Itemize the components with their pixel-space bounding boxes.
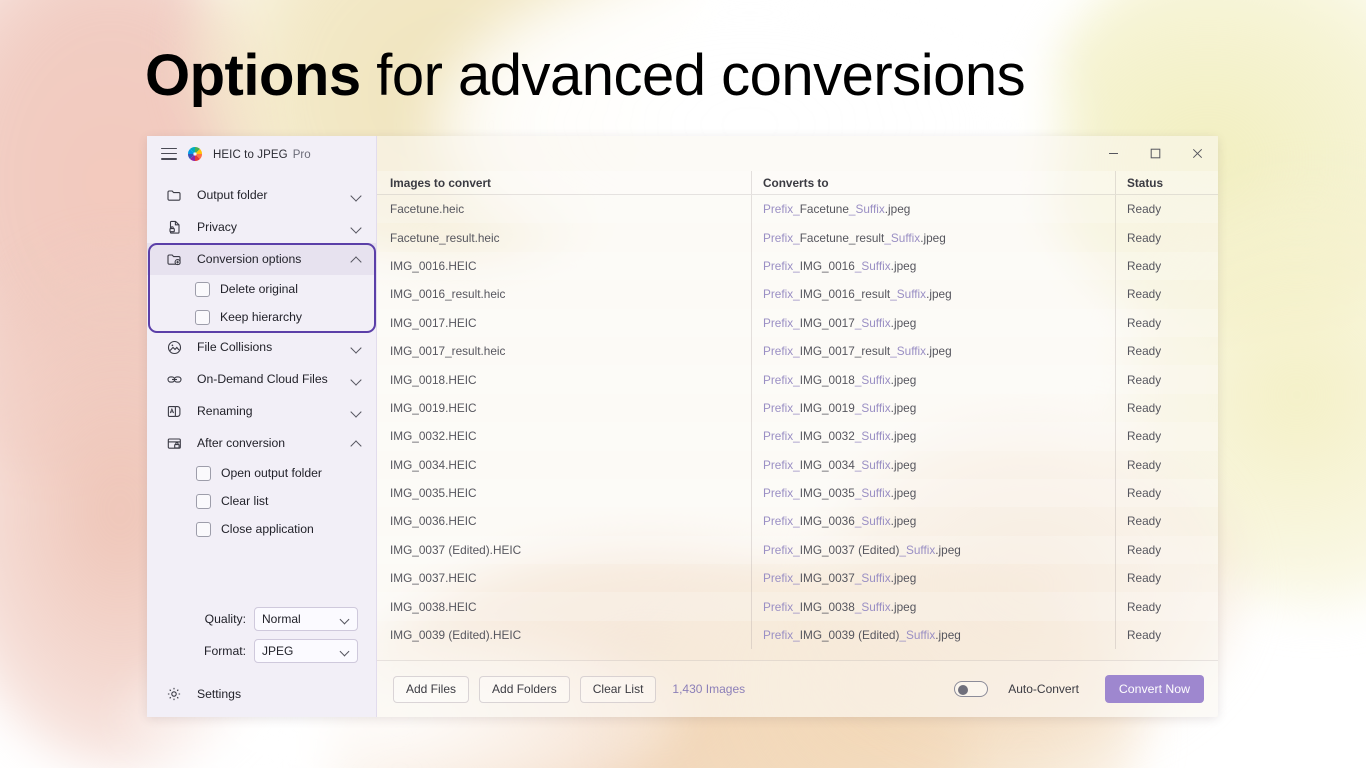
- file-list[interactable]: Facetune.heicPrefix_Facetune_Suffix.jpeg…: [377, 195, 1218, 660]
- source-file-name: IMG_0017.HEIC: [390, 316, 477, 330]
- target-file-name: Prefix_Facetune_result_Suffix.jpeg: [763, 231, 946, 245]
- cell-target-file: Prefix_IMG_0016_result_Suffix.jpeg: [751, 280, 1115, 308]
- checkbox-label: Delete original: [220, 282, 298, 296]
- source-file-name: IMG_0037 (Edited).HEIC: [390, 543, 521, 557]
- sidebar-item-conversion-options[interactable]: Conversion options: [147, 243, 376, 275]
- status-label: Ready: [1127, 600, 1161, 614]
- quality-select[interactable]: Normal: [254, 607, 358, 631]
- format-row: Format: JPEG: [147, 639, 358, 663]
- target-file-name: Prefix_IMG_0017_Suffix.jpeg: [763, 316, 916, 330]
- status-label: Ready: [1127, 287, 1161, 301]
- app-titlebar-left: HEIC to JPEGPro: [147, 136, 376, 171]
- status-label: Ready: [1127, 231, 1161, 245]
- column-header-converts-to[interactable]: Converts to: [751, 171, 1115, 194]
- checkbox-row-keep-hierarchy[interactable]: Keep hierarchy: [147, 303, 376, 331]
- cell-source-file: IMG_0036.HEIC: [377, 507, 751, 535]
- chevron-down-icon[interactable]: [350, 405, 362, 417]
- status-label: Ready: [1127, 458, 1161, 472]
- target-file-name: Prefix_IMG_0016_result_Suffix.jpeg: [763, 287, 952, 301]
- folder-icon: [165, 186, 183, 204]
- target-file-name: Prefix_IMG_0038_Suffix.jpeg: [763, 600, 916, 614]
- cell-target-file: Prefix_IMG_0039 (Edited)_Suffix.jpeg: [751, 621, 1115, 649]
- sidebar-item-label: Renaming: [197, 404, 336, 418]
- sidebar-item-on-demand-cloud-files[interactable]: On-Demand Cloud Files: [147, 363, 376, 395]
- cell-source-file: Facetune_result.heic: [377, 223, 751, 251]
- cell-source-file: IMG_0039 (Edited).HEIC: [377, 621, 751, 649]
- cell-status: Ready: [1115, 223, 1218, 251]
- cell-status: Ready: [1115, 592, 1218, 620]
- checkbox-row-close-application[interactable]: Close application: [147, 515, 376, 543]
- table-row[interactable]: IMG_0037.HEICPrefix_IMG_0037_Suffix.jpeg…: [377, 564, 1218, 592]
- sidebar-item-label: Output folder: [197, 188, 336, 202]
- cell-source-file: IMG_0035.HEIC: [377, 479, 751, 507]
- cell-status: Ready: [1115, 507, 1218, 535]
- cell-status: Ready: [1115, 337, 1218, 365]
- table-row[interactable]: IMG_0016_result.heicPrefix_IMG_0016_resu…: [377, 280, 1218, 308]
- source-file-name: IMG_0016.HEIC: [390, 259, 477, 273]
- bottom-toolbar: Add Files Add Folders Clear List 1,430 I…: [377, 660, 1218, 717]
- checkbox-row-clear-list[interactable]: Clear list: [147, 487, 376, 515]
- source-file-name: Facetune.heic: [390, 202, 464, 216]
- source-file-name: IMG_0034.HEIC: [390, 458, 477, 472]
- sidebar-nav: Output folder Privacy: [147, 171, 376, 543]
- cell-source-file: IMG_0017_result.heic: [377, 337, 751, 365]
- status-label: Ready: [1127, 316, 1161, 330]
- chevron-down-icon: [340, 646, 350, 656]
- cell-target-file: Prefix_IMG_0034_Suffix.jpeg: [751, 451, 1115, 479]
- cell-status: Ready: [1115, 479, 1218, 507]
- toggle-knob: [958, 685, 968, 695]
- source-file-name: IMG_0039 (Edited).HEIC: [390, 628, 521, 642]
- cell-source-file: IMG_0037 (Edited).HEIC: [377, 536, 751, 564]
- chevron-down-icon: [340, 614, 350, 624]
- app-edition-label: Pro: [293, 149, 311, 161]
- sidebar: HEIC to JPEGPro Output folder: [147, 136, 377, 717]
- hamburger-icon[interactable]: [161, 148, 177, 160]
- column-header-status[interactable]: Status: [1115, 171, 1218, 194]
- table-row[interactable]: Facetune.heicPrefix_Facetune_Suffix.jpeg…: [377, 195, 1218, 223]
- app-name-label: HEIC to JPEG: [213, 149, 288, 161]
- close-icon[interactable]: [1176, 136, 1218, 171]
- table-row[interactable]: IMG_0039 (Edited).HEICPrefix_IMG_0039 (E…: [377, 621, 1218, 649]
- column-header-label: Status: [1127, 176, 1163, 190]
- target-file-name: Prefix_IMG_0037 (Edited)_Suffix.jpeg: [763, 543, 961, 557]
- add-folders-button[interactable]: Add Folders: [479, 676, 570, 703]
- status-label: Ready: [1127, 543, 1161, 557]
- quality-label: Quality:: [205, 612, 246, 626]
- source-file-name: IMG_0032.HEIC: [390, 429, 477, 443]
- link-icon: [165, 370, 183, 388]
- settings-label: Settings: [197, 687, 241, 701]
- sidebar-selects: Quality: Normal Format: JPEG: [147, 607, 376, 671]
- quality-row: Quality: Normal: [147, 607, 358, 631]
- source-file-name: IMG_0038.HEIC: [390, 600, 477, 614]
- format-select[interactable]: JPEG: [254, 639, 358, 663]
- gear-icon: [165, 685, 183, 703]
- table-row[interactable]: IMG_0034.HEICPrefix_IMG_0034_Suffix.jpeg…: [377, 451, 1218, 479]
- status-label: Ready: [1127, 344, 1161, 358]
- cell-source-file: IMG_0019.HEIC: [377, 394, 751, 422]
- chevron-down-icon[interactable]: [350, 373, 362, 385]
- chevron-up-icon[interactable]: [350, 253, 362, 265]
- chevron-down-icon[interactable]: [350, 221, 362, 233]
- checkbox-open-output-folder[interactable]: [196, 466, 211, 481]
- main-panel: Images to convert Converts to Status Fac…: [377, 136, 1218, 717]
- table-row[interactable]: IMG_0016.HEICPrefix_IMG_0016_Suffix.jpeg…: [377, 252, 1218, 280]
- headline-rest: for advanced conversions: [361, 43, 1026, 108]
- sidebar-item-renaming[interactable]: Renaming: [147, 395, 376, 427]
- headline-bold-word: Options: [145, 43, 361, 108]
- sidebar-item-output-folder[interactable]: Output folder: [147, 179, 376, 211]
- checkbox-label: Close application: [221, 522, 314, 536]
- add-files-button[interactable]: Add Files: [393, 676, 469, 703]
- checkbox-clear-list[interactable]: [196, 494, 211, 509]
- cell-source-file: IMG_0032.HEIC: [377, 422, 751, 450]
- cell-status: Ready: [1115, 252, 1218, 280]
- source-file-name: IMG_0019.HEIC: [390, 401, 477, 415]
- cell-source-file: IMG_0016_result.heic: [377, 280, 751, 308]
- status-label: Ready: [1127, 259, 1161, 273]
- checkbox-delete-original[interactable]: [195, 282, 210, 297]
- target-file-name: Prefix_IMG_0034_Suffix.jpeg: [763, 458, 916, 472]
- cell-source-file: Facetune.heic: [377, 195, 751, 223]
- status-label: Ready: [1127, 429, 1161, 443]
- auto-convert-label: Auto-Convert: [1008, 682, 1079, 696]
- cell-status: Ready: [1115, 451, 1218, 479]
- app-logo-icon: [187, 146, 203, 162]
- target-file-name: Prefix_IMG_0016_Suffix.jpeg: [763, 259, 916, 273]
- sidebar-item-label: Privacy: [197, 220, 336, 234]
- cell-status: Ready: [1115, 394, 1218, 422]
- table-row[interactable]: IMG_0038.HEICPrefix_IMG_0038_Suffix.jpeg…: [377, 592, 1218, 620]
- target-file-name: Prefix_IMG_0036_Suffix.jpeg: [763, 514, 916, 528]
- cell-source-file: IMG_0034.HEIC: [377, 451, 751, 479]
- cell-status: Ready: [1115, 195, 1218, 223]
- document-lock-icon: [165, 218, 183, 236]
- sidebar-item-after-conversion[interactable]: After conversion: [147, 427, 376, 459]
- table-row[interactable]: IMG_0017.HEICPrefix_IMG_0017_Suffix.jpeg…: [377, 309, 1218, 337]
- format-value: JPEG: [262, 644, 340, 658]
- cell-status: Ready: [1115, 564, 1218, 592]
- status-label: Ready: [1127, 514, 1161, 528]
- format-label: Format:: [204, 644, 246, 658]
- target-file-name: Prefix_IMG_0018_Suffix.jpeg: [763, 373, 916, 387]
- image-circle-icon: [165, 338, 183, 356]
- cell-status: Ready: [1115, 422, 1218, 450]
- source-file-name: Facetune_result.heic: [390, 231, 500, 245]
- cell-target-file: Prefix_IMG_0036_Suffix.jpeg: [751, 507, 1115, 535]
- chevron-down-icon[interactable]: [350, 189, 362, 201]
- cell-target-file: Prefix_IMG_0038_Suffix.jpeg: [751, 592, 1115, 620]
- window-controls: [377, 136, 1218, 171]
- cell-target-file: Prefix_IMG_0019_Suffix.jpeg: [751, 394, 1115, 422]
- cell-target-file: Prefix_IMG_0016_Suffix.jpeg: [751, 252, 1115, 280]
- image-count-label: 1,430 Images: [672, 682, 745, 696]
- maximize-icon[interactable]: [1134, 136, 1176, 171]
- slide-headline: Options for advanced conversions: [145, 42, 1025, 110]
- cell-source-file: IMG_0018.HEIC: [377, 365, 751, 393]
- source-file-name: IMG_0037.HEIC: [390, 571, 477, 585]
- table-row[interactable]: IMG_0017_result.heicPrefix_IMG_0017_resu…: [377, 337, 1218, 365]
- target-file-name: Prefix_IMG_0032_Suffix.jpeg: [763, 429, 916, 443]
- table-row[interactable]: Facetune_result.heicPrefix_Facetune_resu…: [377, 223, 1218, 251]
- table-row[interactable]: IMG_0032.HEICPrefix_IMG_0032_Suffix.jpeg…: [377, 422, 1218, 450]
- status-label: Ready: [1127, 202, 1161, 216]
- status-label: Ready: [1127, 628, 1161, 642]
- sidebar-item-label: After conversion: [197, 436, 336, 450]
- cell-status: Ready: [1115, 280, 1218, 308]
- source-file-name: IMG_0035.HEIC: [390, 486, 477, 500]
- cell-target-file: Prefix_Facetune_Suffix.jpeg: [751, 195, 1115, 223]
- sidebar-item-label: On-Demand Cloud Files: [197, 372, 336, 386]
- table-row[interactable]: IMG_0035.HEICPrefix_IMG_0035_Suffix.jpeg…: [377, 479, 1218, 507]
- checkbox-close-application[interactable]: [196, 522, 211, 537]
- cell-target-file: Prefix_IMG_0035_Suffix.jpeg: [751, 479, 1115, 507]
- status-label: Ready: [1127, 486, 1161, 500]
- cell-target-file: Prefix_IMG_0018_Suffix.jpeg: [751, 365, 1115, 393]
- checkbox-label: Keep hierarchy: [220, 310, 302, 324]
- checkbox-label: Open output folder: [221, 466, 322, 480]
- archive-lock-icon: [165, 434, 183, 452]
- cell-source-file: IMG_0016.HEIC: [377, 252, 751, 280]
- target-file-name: Prefix_IMG_0037_Suffix.jpeg: [763, 571, 916, 585]
- rename-icon: [165, 402, 183, 420]
- target-file-name: Prefix_IMG_0039 (Edited)_Suffix.jpeg: [763, 628, 961, 642]
- cell-target-file: Prefix_Facetune_result_Suffix.jpeg: [751, 223, 1115, 251]
- cell-status: Ready: [1115, 536, 1218, 564]
- chevron-up-icon[interactable]: [350, 437, 362, 449]
- clear-list-button[interactable]: Clear List: [580, 676, 657, 703]
- minimize-icon[interactable]: [1092, 136, 1134, 171]
- cell-source-file: IMG_0038.HEIC: [377, 592, 751, 620]
- column-header-images[interactable]: Images to convert: [377, 174, 751, 192]
- cell-status: Ready: [1115, 365, 1218, 393]
- source-file-name: IMG_0016_result.heic: [390, 287, 505, 301]
- checkbox-keep-hierarchy[interactable]: [195, 310, 210, 325]
- status-label: Ready: [1127, 373, 1161, 387]
- status-label: Ready: [1127, 401, 1161, 415]
- sidebar-item-file-collisions[interactable]: File Collisions: [147, 331, 376, 363]
- table-row[interactable]: IMG_0037 (Edited).HEICPrefix_IMG_0037 (E…: [377, 536, 1218, 564]
- target-file-name: Prefix_IMG_0017_result_Suffix.jpeg: [763, 344, 952, 358]
- folder-gear-icon: [165, 250, 183, 268]
- cell-target-file: Prefix_IMG_0037_Suffix.jpeg: [751, 564, 1115, 592]
- column-header-label: Images to convert: [390, 176, 491, 190]
- table-row[interactable]: IMG_0036.HEICPrefix_IMG_0036_Suffix.jpeg…: [377, 507, 1218, 535]
- cell-status: Ready: [1115, 621, 1218, 649]
- cell-target-file: Prefix_IMG_0032_Suffix.jpeg: [751, 422, 1115, 450]
- sidebar-item-label: File Collisions: [197, 340, 336, 354]
- cell-target-file: Prefix_IMG_0017_Suffix.jpeg: [751, 309, 1115, 337]
- source-file-name: IMG_0036.HEIC: [390, 514, 477, 528]
- target-file-name: Prefix_Facetune_Suffix.jpeg: [763, 202, 910, 216]
- quality-value: Normal: [262, 612, 340, 626]
- auto-convert-toggle[interactable]: [954, 681, 988, 697]
- sidebar-spacer: [147, 543, 376, 607]
- cell-source-file: IMG_0017.HEIC: [377, 309, 751, 337]
- chevron-down-icon[interactable]: [350, 341, 362, 353]
- sidebar-item-privacy[interactable]: Privacy: [147, 211, 376, 243]
- sidebar-item-label: Conversion options: [197, 252, 336, 266]
- table-header-row: Images to convert Converts to Status: [377, 171, 1218, 195]
- slide-canvas: Options for advanced conversions: [0, 0, 1366, 768]
- cell-status: Ready: [1115, 309, 1218, 337]
- app-window: HEIC to JPEGPro Output folder: [147, 136, 1218, 717]
- convert-now-button[interactable]: Convert Now: [1105, 675, 1204, 703]
- sidebar-item-settings[interactable]: Settings: [147, 671, 376, 717]
- checkbox-row-open-output-folder[interactable]: Open output folder: [147, 459, 376, 487]
- checkbox-label: Clear list: [221, 494, 268, 508]
- cell-source-file: IMG_0037.HEIC: [377, 564, 751, 592]
- cell-target-file: Prefix_IMG_0037 (Edited)_Suffix.jpeg: [751, 536, 1115, 564]
- source-file-name: IMG_0018.HEIC: [390, 373, 477, 387]
- column-header-label: Converts to: [763, 176, 829, 190]
- cell-target-file: Prefix_IMG_0017_result_Suffix.jpeg: [751, 337, 1115, 365]
- source-file-name: IMG_0017_result.heic: [390, 344, 505, 358]
- target-file-name: Prefix_IMG_0019_Suffix.jpeg: [763, 401, 916, 415]
- checkbox-row-delete-original[interactable]: Delete original: [147, 275, 376, 303]
- status-label: Ready: [1127, 571, 1161, 585]
- table-row[interactable]: IMG_0018.HEICPrefix_IMG_0018_Suffix.jpeg…: [377, 365, 1218, 393]
- target-file-name: Prefix_IMG_0035_Suffix.jpeg: [763, 486, 916, 500]
- table-row[interactable]: IMG_0019.HEICPrefix_IMG_0019_Suffix.jpeg…: [377, 394, 1218, 422]
